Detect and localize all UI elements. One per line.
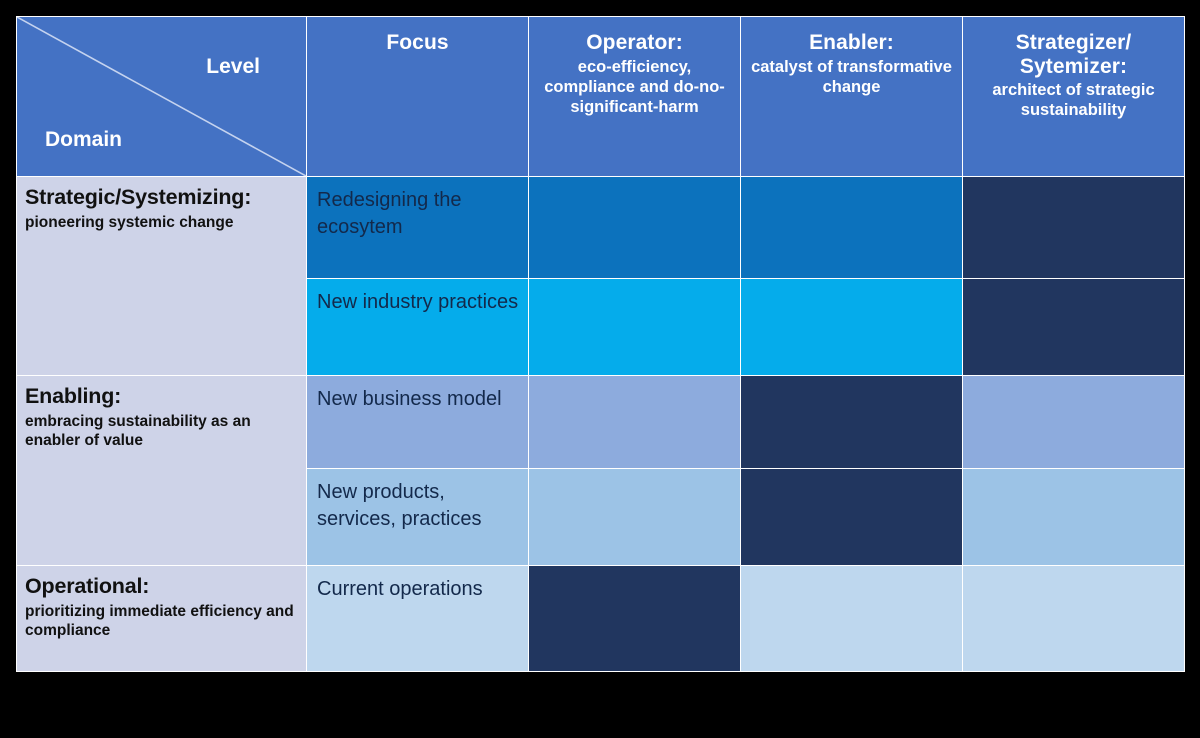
slide-canvas: Level Domain Focus Operator: eco-efficie… bbox=[0, 0, 1200, 738]
matrix-cell-operator bbox=[529, 177, 741, 279]
matrix-cell-strategizer bbox=[963, 279, 1185, 376]
column-header-focus: Focus bbox=[307, 17, 529, 177]
column-header-operator: Operator: eco-efficiency, compliance and… bbox=[529, 17, 741, 177]
domain-subtitle: prioritizing immediate efficiency and co… bbox=[25, 600, 296, 641]
matrix-cell-operator bbox=[529, 376, 741, 469]
axis-label-domain: Domain bbox=[45, 128, 122, 152]
column-header-operator-subtitle: eco-efficiency, compliance and do-no-sig… bbox=[529, 55, 740, 118]
column-header-strategizer: Strategizer/ Sytemizer: architect of str… bbox=[963, 17, 1185, 177]
table-row: Operational: prioritizing immediate effi… bbox=[17, 566, 1185, 672]
matrix-cell-strategizer bbox=[963, 177, 1185, 279]
table-row: Enabling: embracing sustainability as an… bbox=[17, 376, 1185, 469]
domain-subtitle: pioneering systemic change bbox=[25, 211, 296, 233]
corner-header-cell: Level Domain bbox=[17, 17, 307, 177]
column-header-enabler: Enabler: catalyst of transformative chan… bbox=[741, 17, 963, 177]
domain-subtitle: embracing sustainability as an enabler o… bbox=[25, 410, 296, 451]
column-header-strategizer-subtitle: architect of strategic sustainability bbox=[963, 78, 1184, 121]
domain-label-operational: Operational: prioritizing immediate effi… bbox=[17, 566, 307, 672]
axis-label-level: Level bbox=[206, 55, 260, 79]
focus-cell: New industry practices bbox=[307, 279, 529, 376]
matrix-cell-operator bbox=[529, 279, 741, 376]
column-header-focus-title: Focus bbox=[307, 17, 528, 55]
domain-title: Strategic/Systemizing: bbox=[25, 185, 296, 211]
focus-cell: New business model bbox=[307, 376, 529, 469]
column-header-strategizer-title: Strategizer/ Sytemizer: bbox=[963, 17, 1184, 78]
matrix-cell-operator bbox=[529, 469, 741, 566]
diagonal-divider-icon bbox=[17, 17, 306, 176]
domain-title: Operational: bbox=[25, 574, 296, 600]
matrix-cell-operator bbox=[529, 566, 741, 672]
focus-cell: Redesigning the ecosytem bbox=[307, 177, 529, 279]
matrix-cell-enabler bbox=[741, 566, 963, 672]
matrix-cell-enabler bbox=[741, 177, 963, 279]
matrix-cell-strategizer bbox=[963, 469, 1185, 566]
domain-label-strategic: Strategic/Systemizing: pioneering system… bbox=[17, 177, 307, 376]
column-header-operator-title: Operator: bbox=[529, 17, 740, 55]
focus-cell: New products, services, practices bbox=[307, 469, 529, 566]
matrix-cell-strategizer bbox=[963, 566, 1185, 672]
table-header-row: Level Domain Focus Operator: eco-efficie… bbox=[17, 17, 1185, 177]
domain-label-enabling: Enabling: embracing sustainability as an… bbox=[17, 376, 307, 566]
focus-cell: Current operations bbox=[307, 566, 529, 672]
domain-title: Enabling: bbox=[25, 384, 296, 410]
matrix-cell-enabler bbox=[741, 376, 963, 469]
column-header-enabler-title: Enabler: bbox=[741, 17, 962, 55]
matrix-cell-enabler bbox=[741, 279, 963, 376]
matrix-cell-enabler bbox=[741, 469, 963, 566]
maturity-matrix-table: Level Domain Focus Operator: eco-efficie… bbox=[16, 16, 1185, 672]
table-row: Strategic/Systemizing: pioneering system… bbox=[17, 177, 1185, 279]
matrix-cell-strategizer bbox=[963, 376, 1185, 469]
column-header-enabler-subtitle: catalyst of transformative change bbox=[741, 55, 962, 98]
